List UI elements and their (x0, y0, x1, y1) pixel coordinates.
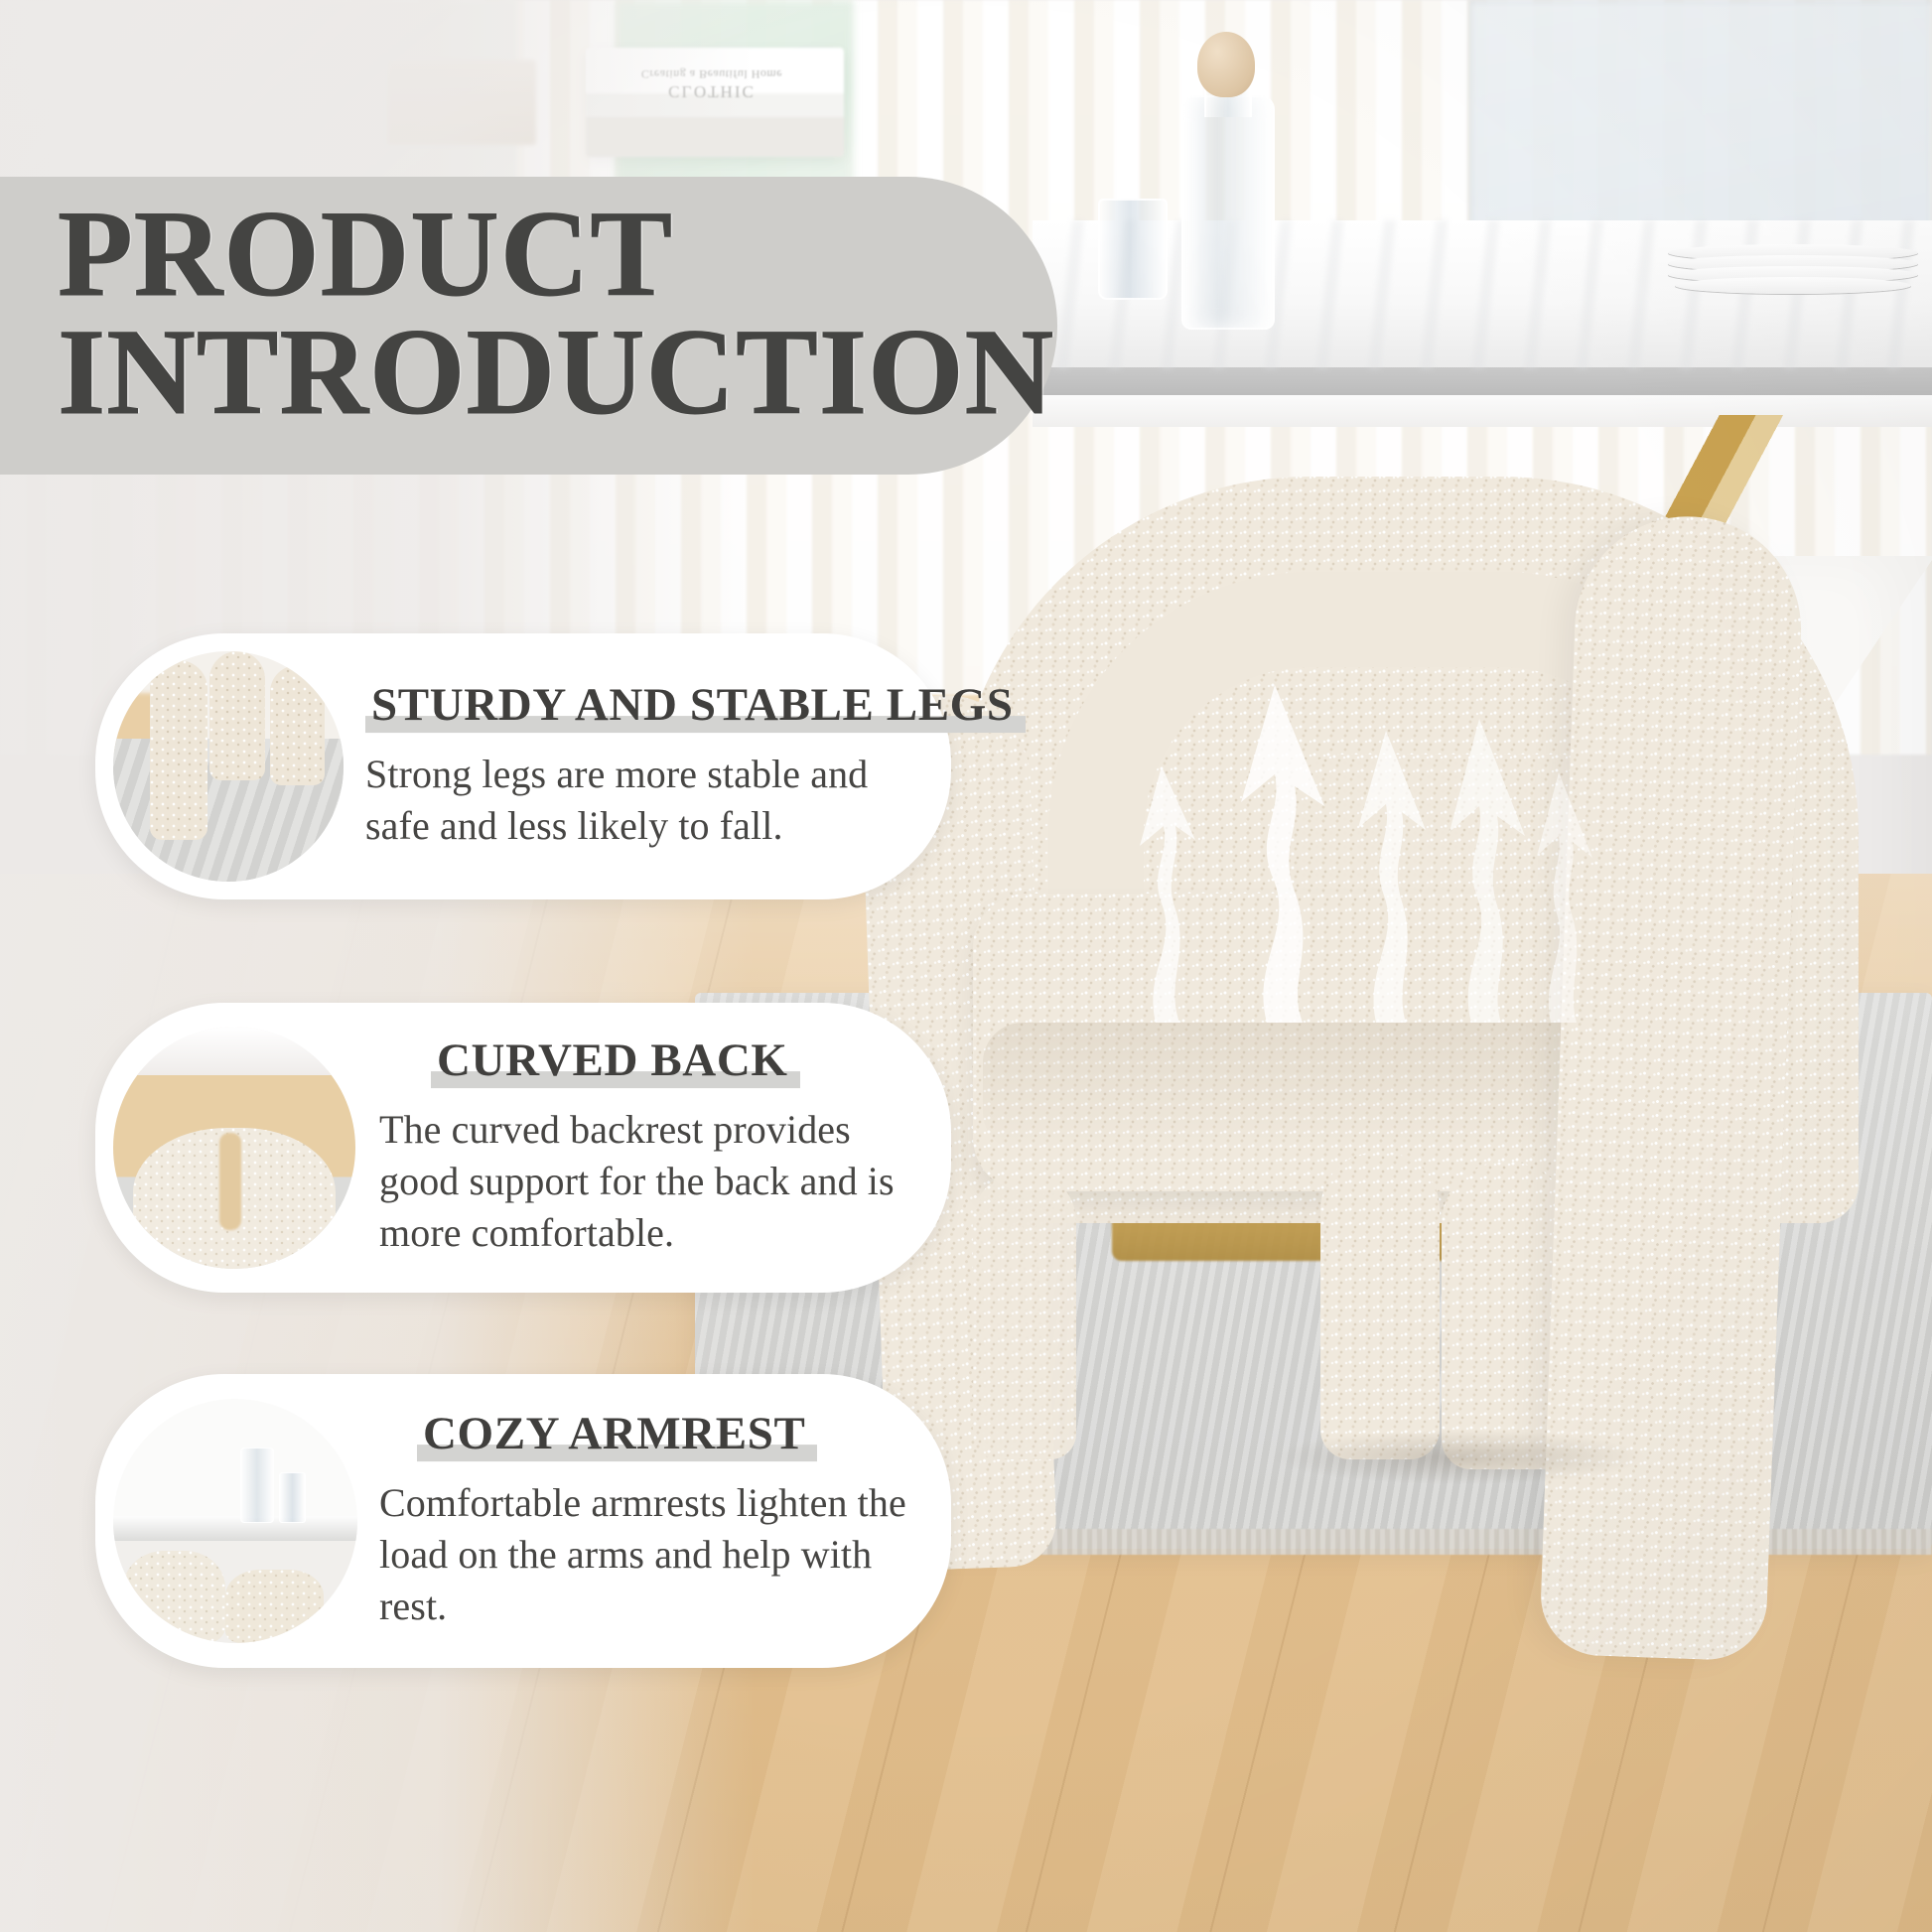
feature-description: The curved backrest provides good suppor… (379, 1104, 907, 1259)
page-title-line-1: PRODUCT (58, 195, 1328, 313)
page-title-line-2: INTRODUCTION (58, 313, 1328, 431)
shelf-box (387, 60, 536, 145)
feature-card-cozy-armrest[interactable]: COZY ARMREST Comfortable armrests lighte… (95, 1374, 951, 1668)
feature-heading: COZY ARMREST (417, 1410, 817, 1463)
feature-description: Comfortable armrests lighten the load on… (379, 1477, 907, 1632)
chair-seat-shadow (983, 1023, 1618, 1152)
chair-leg-back (973, 1172, 1076, 1459)
product-introduction-graphic: CLOTHIC Creating a Beautiful Home (0, 0, 1932, 1932)
book-title-text: CLOTHIC (668, 82, 756, 101)
book-subtitle-text: Creating a Beautiful Home (608, 67, 816, 81)
chair-right-arm (1539, 512, 1805, 1661)
feature-card-curved-back[interactable]: CURVED BACK The curved backrest provides… (95, 1003, 951, 1293)
page-title: PRODUCT INTRODUCTION (58, 195, 1328, 431)
chair-floor-shadow (1271, 1430, 1648, 1485)
plate-stack (1668, 244, 1918, 302)
feature-thumbnail-curved-back (113, 1027, 355, 1269)
book-cover-label: CLOTHIC Creating a Beautiful Home (608, 62, 816, 101)
feature-card-sturdy-legs[interactable]: STURDY AND STABLE LEGS Strong legs are m… (95, 633, 951, 899)
feature-thumbnail-chair-legs (113, 651, 344, 882)
feature-description: Strong legs are more stable and safe and… (365, 749, 907, 852)
feature-heading: CURVED BACK (431, 1036, 800, 1090)
feature-heading: STURDY AND STABLE LEGS (365, 681, 1026, 735)
wood-stopper (1197, 32, 1255, 97)
feature-thumbnail-armrest (113, 1399, 357, 1643)
plate (1675, 277, 1911, 294)
chair-leg-front-left (1320, 1152, 1440, 1459)
